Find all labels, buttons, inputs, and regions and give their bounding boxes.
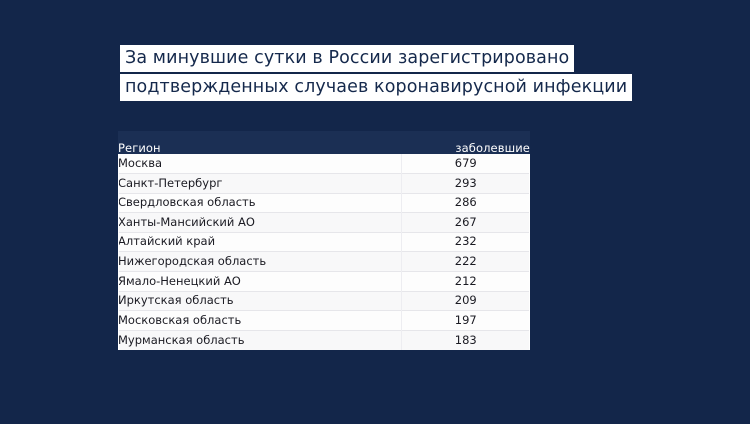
- cell-cases: 267: [401, 213, 530, 233]
- cell-cases: 209: [401, 291, 530, 311]
- table-header-row: Регион заболевшие: [118, 131, 530, 154]
- table-row: Иркутская область209: [118, 291, 530, 311]
- table-row: Свердловская область286: [118, 193, 530, 213]
- cell-region: Москва: [118, 154, 401, 174]
- cell-cases: 212: [401, 272, 530, 292]
- table-body: Москва679Санкт-Петербург293Свердловская …: [118, 154, 530, 350]
- cell-region: Алтайский край: [118, 232, 401, 252]
- title-line-2: подтвержденных случаев коронавирусной ин…: [120, 74, 632, 101]
- cell-region: Нижегородская область: [118, 252, 401, 272]
- table-row: Ханты-Мансийский АО267: [118, 213, 530, 233]
- slide-canvas: За минувшие сутки в России зарегистриров…: [0, 0, 750, 424]
- table-header: Регион заболевшие: [118, 131, 530, 154]
- cell-region: Санкт-Петербург: [118, 174, 401, 194]
- cell-cases: 286: [401, 193, 530, 213]
- cell-region: Ханты-Мансийский АО: [118, 213, 401, 233]
- cases-by-region-table: Регион заболевшие Москва679Санкт-Петербу…: [118, 131, 530, 350]
- cell-cases: 293: [401, 174, 530, 194]
- cell-cases: 232: [401, 232, 530, 252]
- table-row: Алтайский край232: [118, 232, 530, 252]
- table-row: Санкт-Петербург293: [118, 174, 530, 194]
- title-line-1: За минувшие сутки в России зарегистриров…: [120, 45, 574, 72]
- cell-region: Мурманская область: [118, 330, 401, 350]
- table-row: Ямало-Ненецкий АО212: [118, 272, 530, 292]
- table-row: Московская область197: [118, 311, 530, 331]
- cell-cases: 197: [401, 311, 530, 331]
- cell-cases: 679: [401, 154, 530, 174]
- cell-cases: 222: [401, 252, 530, 272]
- cell-region: Иркутская область: [118, 291, 401, 311]
- table-row: Москва679: [118, 154, 530, 174]
- table-row: Мурманская область183: [118, 330, 530, 350]
- cell-region: Свердловская область: [118, 193, 401, 213]
- cell-region: Ямало-Ненецкий АО: [118, 272, 401, 292]
- page-title: За минувшие сутки в России зарегистриров…: [120, 45, 632, 101]
- cell-region: Московская область: [118, 311, 401, 331]
- column-header-region: Регион: [118, 131, 401, 154]
- table-row: Нижегородская область222: [118, 252, 530, 272]
- cell-cases: 183: [401, 330, 530, 350]
- column-header-cases: заболевшие: [401, 131, 530, 154]
